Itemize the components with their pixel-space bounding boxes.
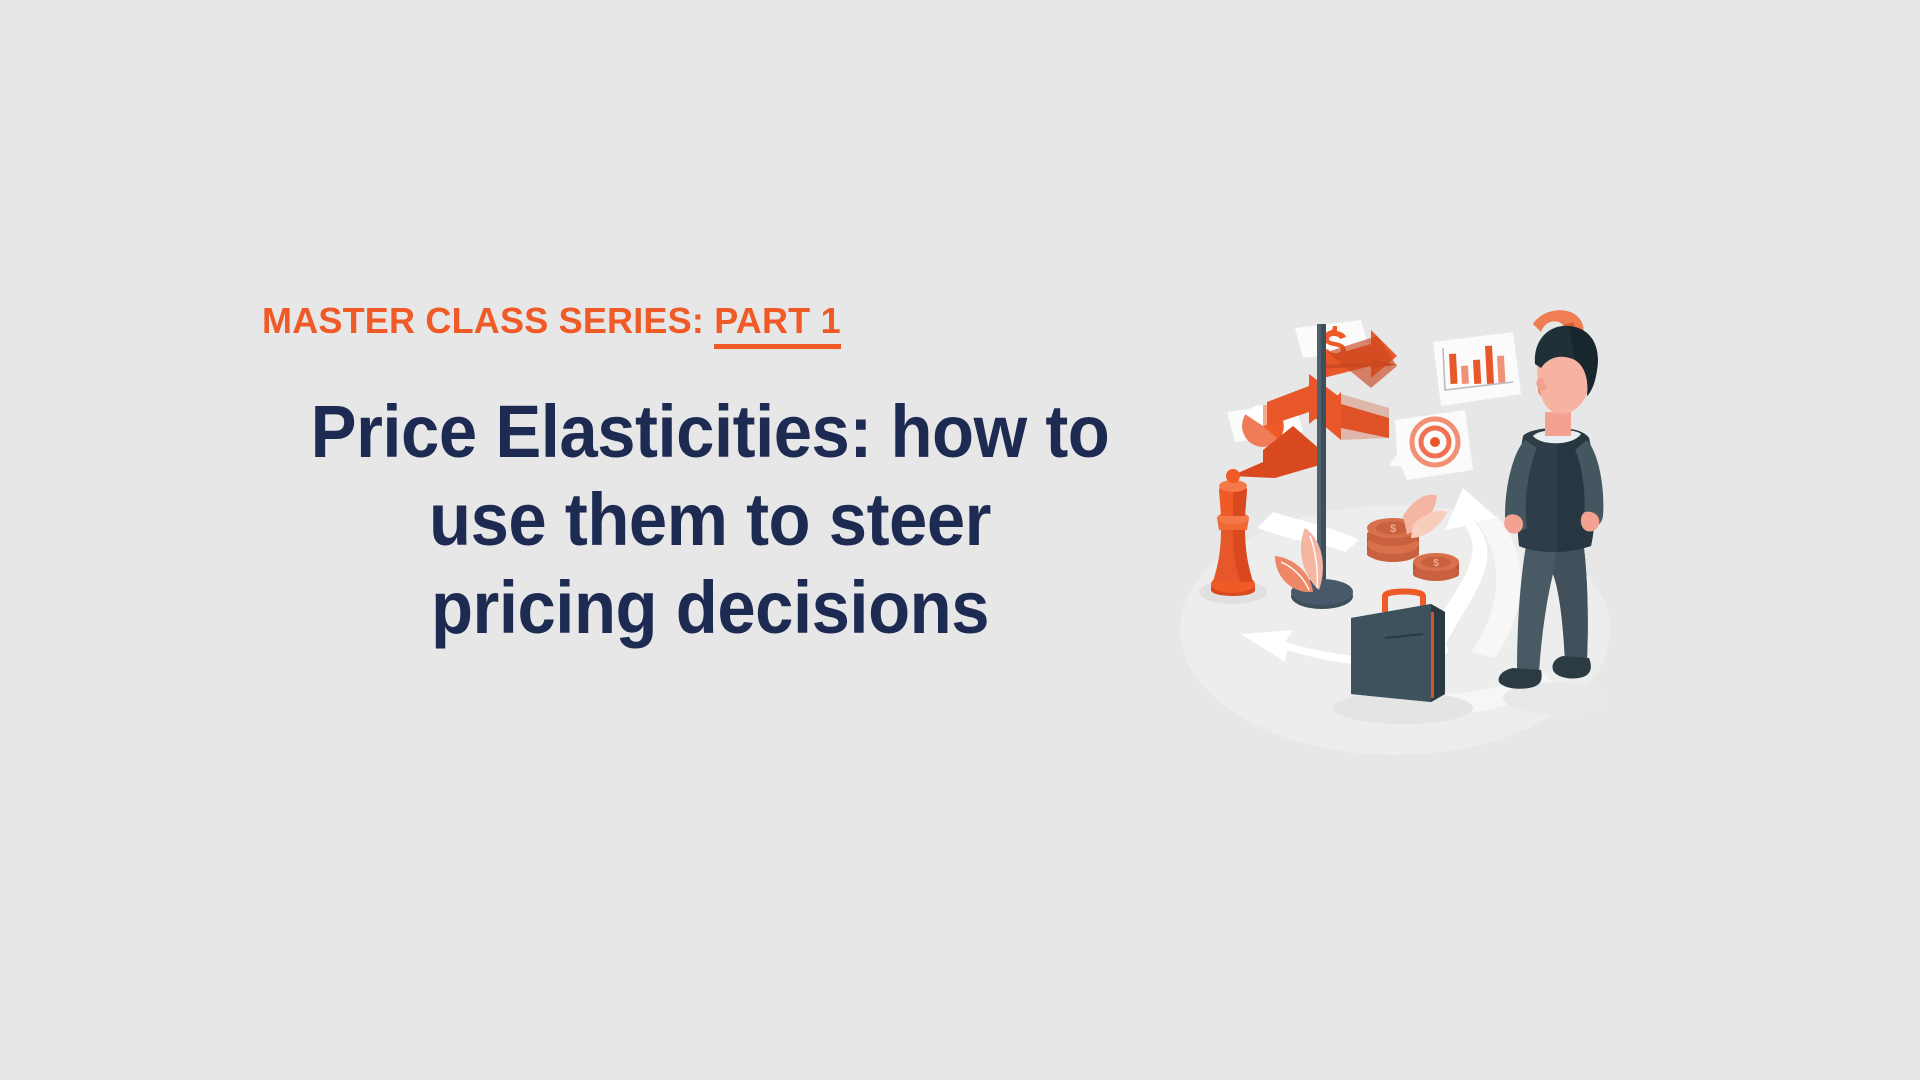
page-title: Price Elasticities: how to use them to s… [217,388,1203,652]
target-icon [1412,419,1458,465]
eyebrow-prefix: MASTER CLASS SERIES: [262,300,704,341]
headline-line-3: pricing decisions [431,566,989,649]
title-text-block: MASTER CLASS SERIES: PART 1 Price Elasti… [180,300,1240,652]
headline-line-1: Price Elasticities: how to [311,390,1110,473]
svg-text:$: $ [1433,558,1439,569]
slide-canvas: MASTER CLASS SERIES: PART 1 Price Elasti… [0,0,1920,1080]
hero-illustration: $ $ [1145,290,1635,760]
card-bar-chart [1433,332,1521,406]
card-target [1389,410,1473,480]
headline-line-2: use them to steer [429,478,991,561]
shoe-left [1499,668,1542,689]
eyebrow-emphasis: PART 1 [714,300,841,342]
svg-text:$: $ [1390,523,1396,535]
shoe-right [1552,656,1590,679]
eyebrow-label: MASTER CLASS SERIES: PART 1 [262,300,1240,342]
